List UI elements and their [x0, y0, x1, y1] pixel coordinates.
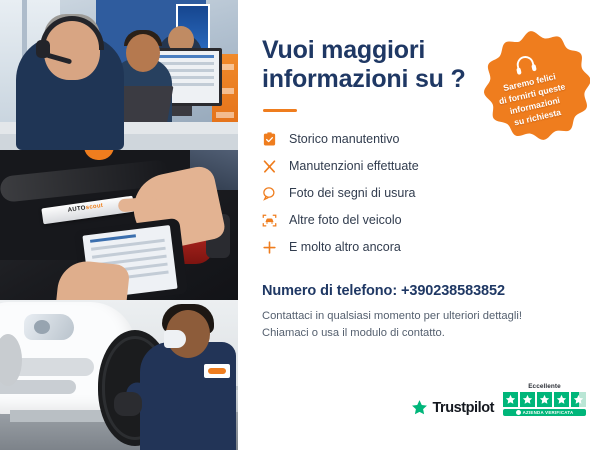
trustpilot-logo: Trustpilot: [411, 399, 494, 416]
star-half: [571, 392, 586, 407]
list-item: Foto dei segni di usura: [262, 180, 578, 207]
advertisement-banner: AUTOscout: [0, 0, 600, 450]
verified-label: AZIENDA VERIFICATA: [523, 410, 574, 415]
star-filled: [554, 392, 569, 407]
contact-line-1: Contattaci in qualsiasi momento per ulte…: [262, 310, 522, 322]
tools-cross-icon: [262, 159, 277, 174]
list-item-label: Foto dei segni di usura: [289, 186, 415, 200]
headset-icon: [512, 52, 538, 76]
hand-decor-2: [56, 258, 131, 300]
plus-icon: [262, 240, 277, 255]
contact-line-2: Chiamaci o usa il modulo di contatto.: [262, 327, 445, 339]
content-panel: Vuoi maggiori informazioni su ? Storico …: [238, 0, 600, 450]
contact-instructions: Contattaci in qualsiasi momento per ulte…: [262, 308, 578, 342]
star-filled: [520, 392, 535, 407]
list-item-label: E molto altro ancora: [289, 240, 401, 254]
trustpilot-widget[interactable]: Trustpilot Eccellente AZIENDA VERIFICATA: [411, 383, 586, 416]
person-head-2: [126, 34, 160, 72]
list-item-label: Storico manutentivo: [289, 132, 399, 146]
work-glove-decor: [114, 392, 142, 416]
verified-check-icon: [516, 410, 521, 415]
photo-mechanic-wheel: [0, 300, 238, 450]
callout-badge: Saremo felici di fornirti queste informa…: [472, 30, 590, 148]
phone-label: Numero di telefono:: [262, 283, 397, 299]
list-item-label: Altre foto del veicolo: [289, 213, 402, 227]
uniform-logo-decor: [204, 364, 230, 378]
list-item: Manutenzioni effettuate: [262, 153, 578, 180]
phone-number[interactable]: +390238583852: [401, 283, 505, 299]
trustpilot-star-icon: [411, 399, 428, 416]
phone-number-line: Numero di telefono: +390238583852: [262, 283, 578, 299]
star-rating: [503, 392, 586, 407]
clipboard-check-icon: [262, 132, 277, 147]
monitor-stand: [170, 106, 192, 116]
rating-label: Eccellente: [528, 383, 561, 390]
list-item: Altre foto del veicolo: [262, 207, 578, 234]
title-underline-rule: [263, 109, 297, 112]
list-item-label: Manutenzioni effettuate: [289, 159, 419, 173]
page-title: Vuoi maggiori informazioni su ?: [262, 36, 477, 95]
list-item: E molto altro ancora: [262, 234, 578, 261]
verified-company-badge: AZIENDA VERIFICATA: [503, 409, 586, 416]
photo-vehicle-inspection: AUTOscout: [0, 150, 238, 300]
headline-line-2: informazioni su ?: [262, 65, 466, 93]
headline-line-1: Vuoi maggiori: [262, 36, 425, 64]
badge-text: Saremo felici di fornirti queste informa…: [495, 68, 572, 131]
star-filled: [503, 392, 518, 407]
magnifier-icon: [262, 186, 277, 201]
face-mask-decor: [164, 330, 186, 348]
trustpilot-brand: Trustpilot: [432, 400, 494, 416]
headlight-decor: [24, 314, 74, 340]
photo-column: AUTOscout: [0, 0, 238, 450]
trustpilot-rating: Eccellente AZIENDA VERIFICATA: [503, 383, 586, 416]
car-scan-icon: [262, 213, 277, 228]
photo-call-center: [0, 0, 238, 150]
star-filled: [537, 392, 552, 407]
